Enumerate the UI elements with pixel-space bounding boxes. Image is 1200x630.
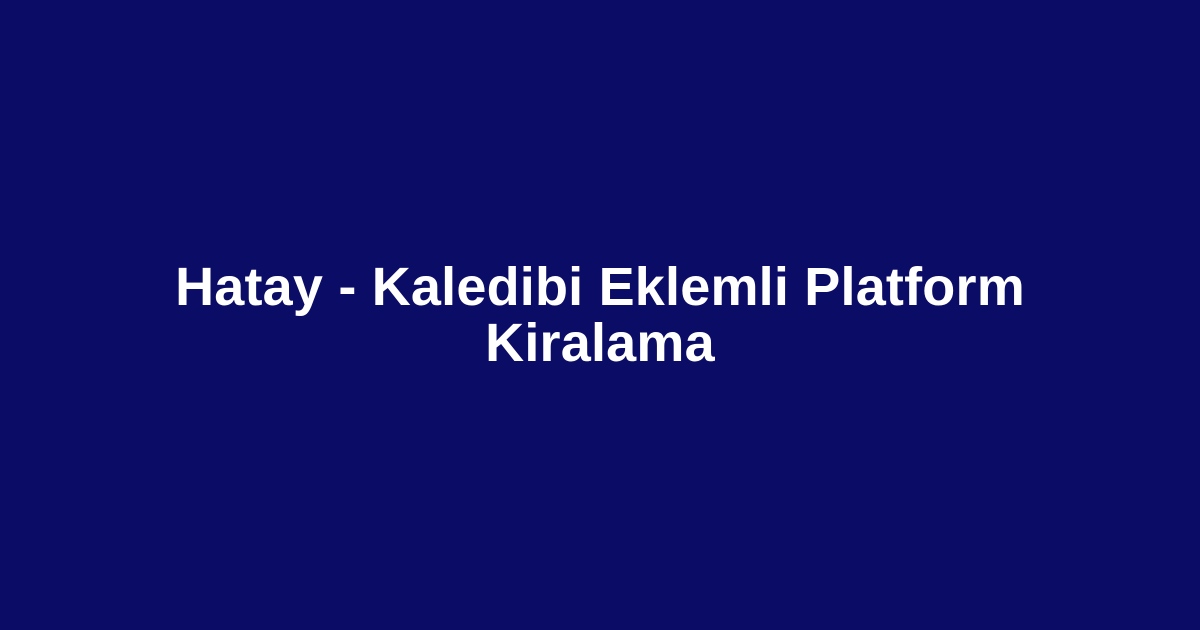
og-share-card: Hatay - Kaledibi Eklemli Platform Kirala… (0, 0, 1200, 630)
page-title: Hatay - Kaledibi Eklemli Platform Kirala… (170, 259, 1030, 371)
card-content: Hatay - Kaledibi Eklemli Platform Kirala… (0, 259, 1200, 371)
